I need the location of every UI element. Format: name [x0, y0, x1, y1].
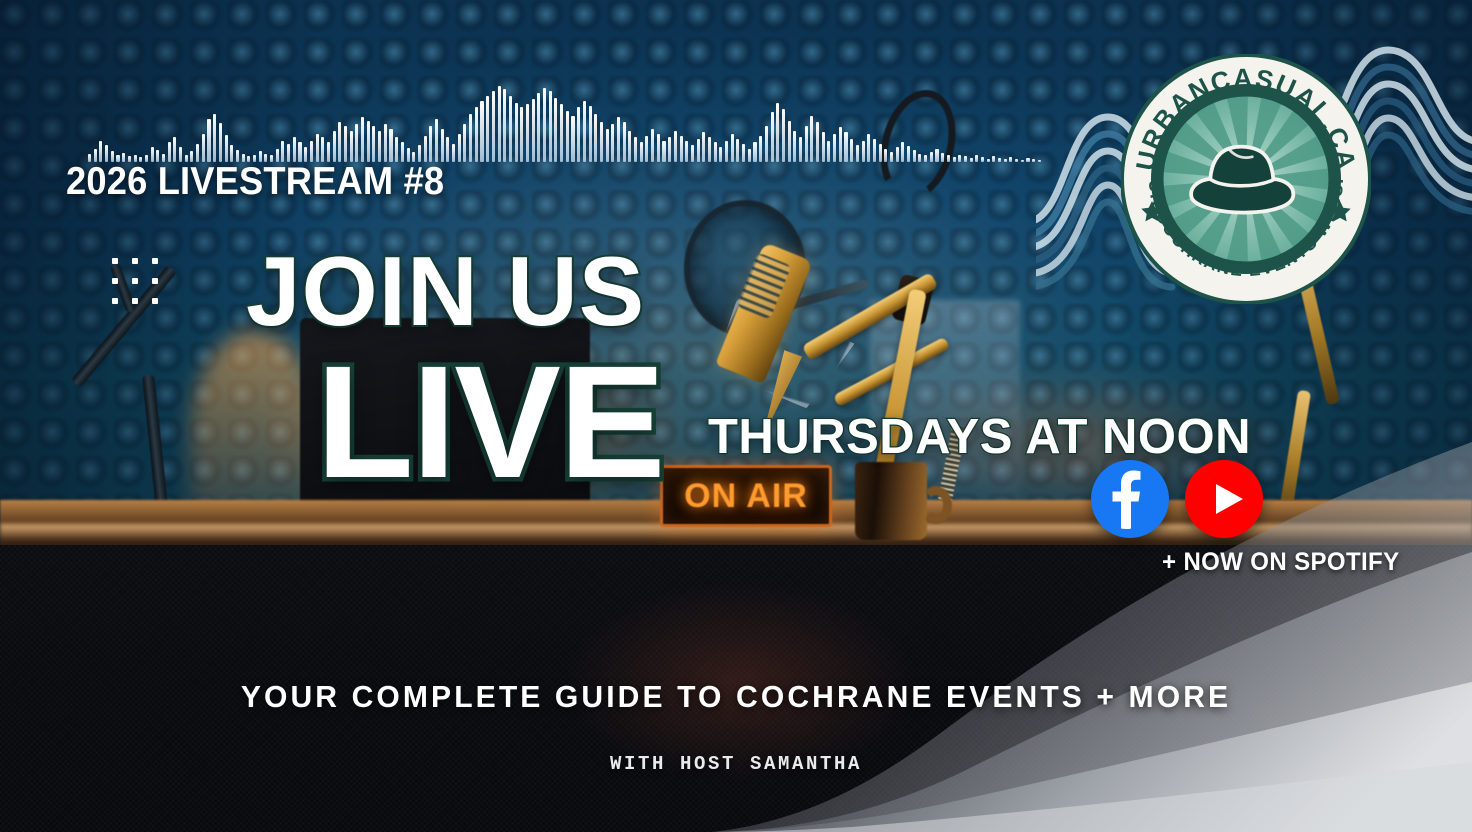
- livestream-promo-poster: ON AIR: [0, 0, 1472, 832]
- waveform-bar: [674, 131, 677, 162]
- waveform-bar: [446, 137, 449, 162]
- waveform-bar: [1015, 159, 1018, 162]
- waveform-bar: [583, 101, 586, 162]
- waveform-bar: [657, 134, 660, 162]
- waveform-bar: [970, 158, 973, 162]
- boom-cable-hoop: [870, 82, 967, 208]
- waveform-bar: [697, 139, 700, 162]
- waveform-bar: [662, 141, 665, 162]
- waveform-bar: [554, 98, 557, 162]
- grid-dot: [152, 258, 158, 264]
- waveform-bar: [350, 131, 353, 162]
- waveform-bar: [310, 141, 313, 162]
- waveform-bar: [378, 131, 381, 162]
- waveform-bar: [384, 124, 387, 162]
- waveform-bar: [651, 129, 654, 162]
- waveform-bar: [839, 127, 842, 162]
- youtube-icon[interactable]: [1185, 460, 1263, 538]
- waveform-bar: [907, 146, 910, 162]
- waveform-bar: [998, 158, 1001, 162]
- waveform-bar: [611, 124, 614, 162]
- waveform-bar: [719, 147, 722, 162]
- waveform-bar: [367, 121, 370, 162]
- waveform-bar: [594, 114, 597, 162]
- schedule-text: THURSDAYS AT NOON: [708, 409, 1251, 465]
- waveform-bar: [1021, 160, 1024, 162]
- waveform-bar: [668, 137, 671, 162]
- waveform-bar: [526, 104, 529, 162]
- facebook-icon[interactable]: [1091, 460, 1169, 538]
- waveform-bar: [281, 141, 284, 162]
- grid-dot: [112, 258, 118, 264]
- grid-dot: [132, 298, 138, 304]
- waveform-bar: [458, 134, 461, 162]
- waveform-bar: [333, 131, 336, 162]
- waveform-bar: [879, 144, 882, 162]
- facebook-glyph: [1091, 460, 1169, 538]
- waveform-bar: [788, 121, 791, 162]
- waveform-bar: [623, 122, 626, 162]
- waveform-bar: [213, 114, 216, 162]
- waveform-bar: [492, 91, 495, 162]
- waveform-bar: [429, 126, 432, 162]
- waveform-bar: [793, 131, 796, 162]
- waveform-bar: [981, 157, 984, 162]
- social-icon-group: [1091, 460, 1263, 538]
- waveform-bar: [560, 104, 563, 162]
- waveform-bar: [975, 155, 978, 162]
- waveform-bar: [680, 136, 683, 162]
- urbancasual-badge-logo[interactable]: URBANCASUAL.CA YOUR COCHRANE EVENTS WEBS…: [1121, 54, 1371, 304]
- headline-live: LIVE: [316, 342, 664, 502]
- waveform-bar: [435, 119, 438, 162]
- waveform-bar: [566, 111, 569, 162]
- waveform-bar: [316, 134, 319, 162]
- grid-dot: [132, 278, 138, 284]
- waveform-bar: [321, 137, 324, 162]
- waveform-bar: [520, 107, 523, 162]
- waveform-bar: [441, 129, 444, 162]
- waveform-bar: [202, 134, 205, 162]
- waveform-bar: [606, 129, 609, 162]
- waveform-bar: [856, 145, 859, 162]
- episode-kicker: 2026 LIVESTREAM #8: [66, 160, 444, 204]
- waveform-bar: [571, 116, 574, 162]
- waveform-bar: [617, 117, 620, 162]
- grid-dot: [112, 278, 118, 284]
- waveform-bar: [515, 103, 518, 162]
- waveform-bar: [862, 141, 865, 162]
- grid-dot: [132, 258, 138, 264]
- grid-dot: [112, 298, 118, 304]
- waveform-bar: [890, 152, 893, 162]
- waveform-bar: [1004, 159, 1007, 162]
- dot-grid-decoration: [112, 258, 158, 304]
- waveform-bar: [765, 126, 768, 162]
- waveform-bar: [759, 136, 762, 162]
- waveform-bar: [293, 137, 296, 162]
- waveform-bar: [964, 156, 967, 162]
- waveform-bar: [850, 139, 853, 162]
- grid-dot: [152, 278, 158, 284]
- grid-dot: [152, 298, 158, 304]
- waveform-bar: [361, 117, 364, 162]
- waveform-bar: [645, 136, 648, 162]
- waveform-bar: [532, 99, 535, 162]
- waveform-bar: [941, 153, 944, 162]
- waveform-bar: [947, 155, 950, 162]
- waveform-bar: [748, 149, 751, 162]
- waveform-bar: [600, 122, 603, 162]
- waveform-bar: [753, 142, 756, 162]
- waveform-bar: [736, 139, 739, 162]
- waveform-bar: [372, 126, 375, 162]
- waveform-bar: [685, 141, 688, 162]
- waveform-bar: [634, 137, 637, 162]
- waveform-bar: [395, 137, 398, 162]
- waveform-bar: [708, 137, 711, 162]
- waveform-bar: [913, 150, 916, 162]
- waveform-bar: [987, 159, 990, 162]
- brand-logo-zone: URBANCASUAL.CA YOUR COCHRANE EVENTS WEBS…: [1036, 22, 1472, 322]
- waveform-bar: [833, 134, 836, 162]
- host-credit-text: WITH HOST SAMANTHA: [0, 753, 1472, 775]
- waveform-bar: [486, 96, 489, 162]
- waveform-bar: [691, 145, 694, 162]
- audio-waveform-graphic: [88, 86, 520, 162]
- waveform-bar: [901, 142, 904, 162]
- waveform-bar: [873, 139, 876, 162]
- waveform-bar: [918, 154, 921, 162]
- waveform-bar: [537, 93, 540, 162]
- waveform-bar: [452, 144, 455, 162]
- waveform-bar: [338, 122, 341, 162]
- waveform-bar: [355, 124, 358, 162]
- waveform-bar: [953, 157, 956, 162]
- waveform-bar: [480, 101, 483, 162]
- waveform-bar: [469, 114, 472, 162]
- waveform-bar: [640, 142, 643, 162]
- waveform-bar: [924, 155, 927, 162]
- youtube-play-glyph: [1185, 460, 1263, 538]
- waveform-bar: [884, 149, 887, 162]
- waveform-bar: [549, 91, 552, 162]
- waveform-bar: [810, 116, 813, 162]
- waveform-bar: [503, 89, 506, 162]
- waveform-bar: [99, 141, 102, 162]
- spotify-note: + NOW ON SPOTIFY: [1162, 548, 1400, 577]
- waveform-bar: [219, 123, 222, 162]
- headline-join-us: JOIN US: [246, 242, 645, 340]
- waveform-bar: [805, 126, 808, 162]
- waveform-bar: [827, 141, 830, 162]
- waveform-bar: [424, 136, 427, 162]
- waveform-bar: [702, 132, 705, 162]
- tagline-text: YOUR COMPLETE GUIDE TO COCHRANE EVENTS +…: [22, 679, 1450, 715]
- waveform-bar: [1026, 158, 1029, 162]
- waveform-bar: [577, 107, 580, 162]
- waveform-bar: [509, 96, 512, 162]
- waveform-bar: [543, 88, 546, 162]
- waveform-bar: [589, 106, 592, 162]
- waveform-bar: [782, 109, 785, 162]
- waveform-bar: [930, 152, 933, 162]
- waveform-bar: [896, 147, 899, 162]
- waveform-bar: [844, 132, 847, 162]
- waveform-bar: [475, 107, 478, 162]
- waveform-bar: [742, 144, 745, 162]
- waveform-bar: [173, 137, 176, 162]
- waveform-bar: [776, 103, 779, 162]
- waveform-bar: [714, 142, 717, 162]
- waveform-bar: [935, 149, 938, 162]
- waveform-bar: [771, 112, 774, 162]
- waveform-bar: [225, 135, 228, 162]
- waveform-bar: [799, 137, 802, 162]
- waveform-bar: [498, 86, 501, 162]
- waveform-bar: [992, 156, 995, 162]
- waveform-bar: [816, 122, 819, 162]
- waveform-bar: [389, 129, 392, 162]
- waveform-bar: [1032, 159, 1035, 162]
- waveform-bar: [958, 155, 961, 162]
- waveform-bar: [344, 126, 347, 162]
- waveform-bar: [731, 134, 734, 162]
- waveform-bar: [628, 131, 631, 162]
- waveform-bar: [207, 119, 210, 162]
- waveform-bar: [822, 132, 825, 162]
- waveform-bar: [463, 124, 466, 162]
- waveform-bar: [867, 134, 870, 162]
- waveform-bar: [725, 141, 728, 162]
